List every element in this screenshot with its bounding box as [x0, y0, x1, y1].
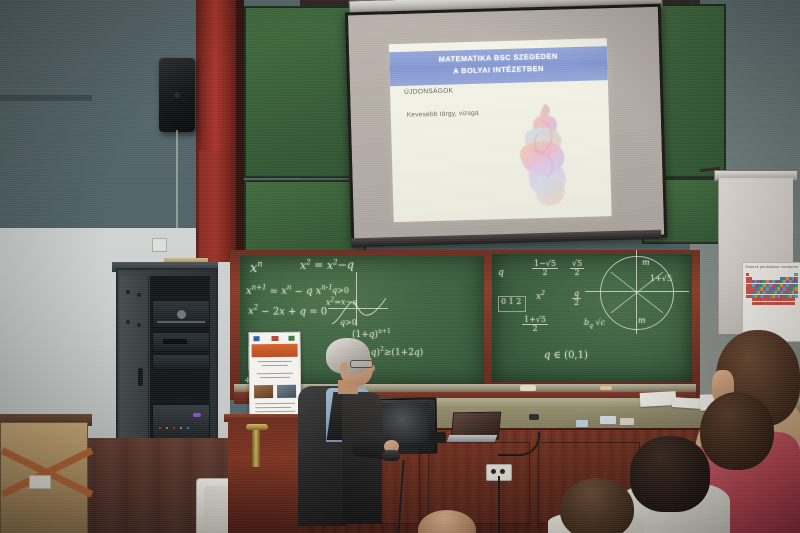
lecture-hall-photo: MATEMATIKA BSC SZEGEDEN A BOLYAI INTÉZET… [0, 0, 800, 533]
photo-grain [0, 0, 800, 533]
